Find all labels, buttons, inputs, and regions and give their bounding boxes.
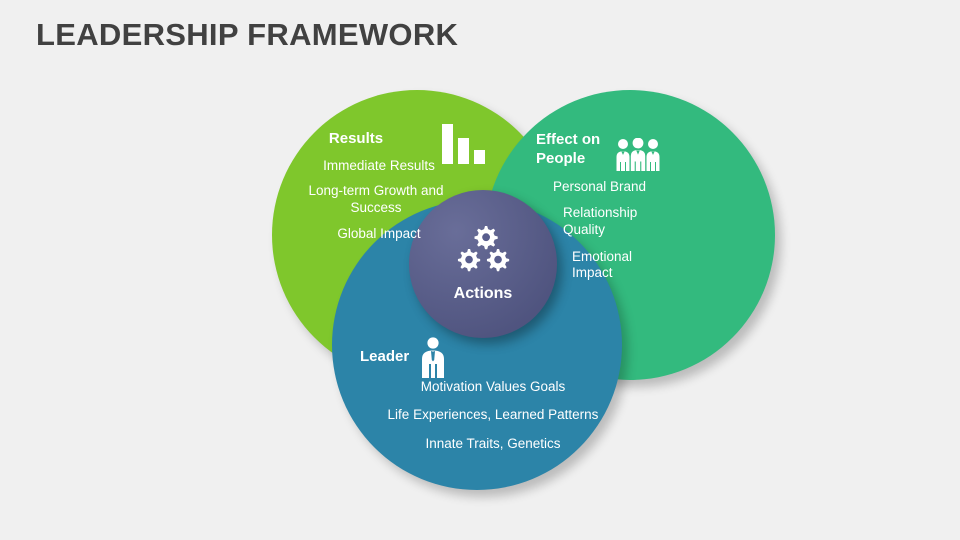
person-icon	[420, 337, 446, 378]
list-item: Motivation Values Goals	[368, 379, 618, 396]
list-item: Innate Traits, Genetics	[368, 436, 618, 453]
gears-icon	[452, 226, 514, 276]
three-people-icon	[616, 138, 660, 172]
group-leader-items: Motivation Values Goals Life Experiences…	[368, 379, 618, 453]
list-item: Life Experiences, Learned Patterns	[368, 407, 618, 424]
group-actions: Actions	[409, 190, 557, 338]
group-effect-on-people-items: Personal Brand Relationship Quality Emot…	[536, 179, 716, 283]
actions-label: Actions	[454, 285, 513, 303]
list-item: Relationship Quality	[563, 205, 659, 238]
bar-chart-icon	[440, 122, 488, 166]
group-leader-heading: Leader	[358, 348, 618, 367]
group-leader: Leader Motivation Values Goals Life Expe…	[358, 348, 618, 465]
list-item: Personal Brand	[553, 179, 716, 196]
list-item: Emotional Impact	[572, 249, 658, 282]
slide-canvas: LEADERSHIP FRAMEWORK	[0, 0, 960, 540]
group-effect-on-people-heading: Effect on People	[536, 131, 616, 169]
venn-diagram: Results Immediate Results Long-term Grow…	[0, 0, 960, 540]
